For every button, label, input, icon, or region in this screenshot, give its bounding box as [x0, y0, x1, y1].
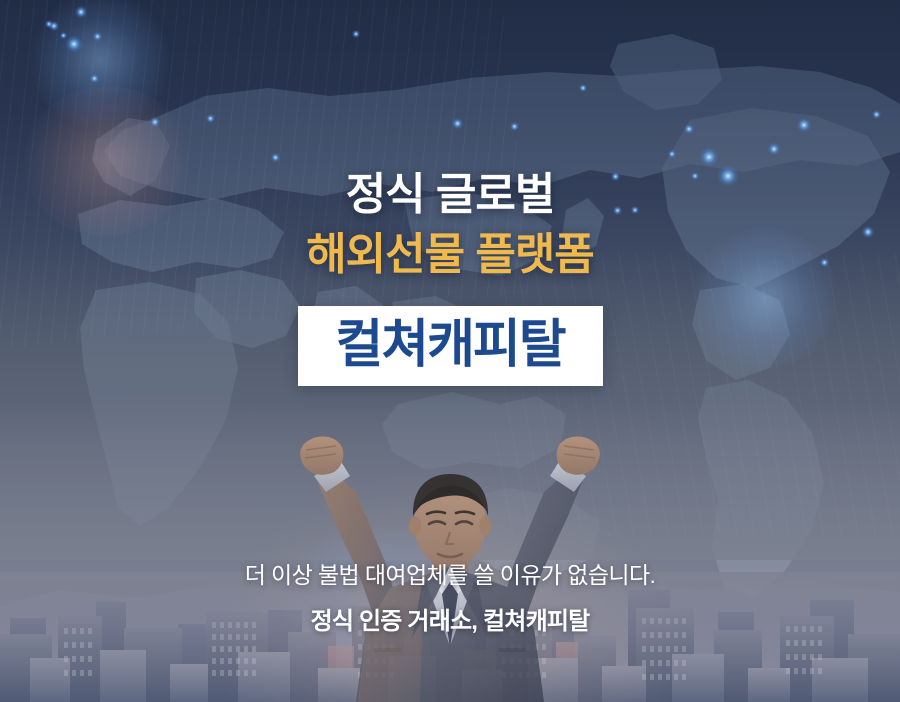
banner-content: 정식 글로벌 해외선물 플랫폼 컬쳐캐피탈 [0, 0, 900, 702]
headline-secondary: 해외선물 플랫폼 [306, 232, 594, 279]
promo-banner: 정식 글로벌 해외선물 플랫폼 컬쳐캐피탈 더 이상 불법 대여업체를 쓸 이유… [0, 0, 900, 702]
brand-name-box: 컬쳐캐피탈 [298, 306, 603, 386]
brand-name-text: 컬쳐캐피탈 [335, 319, 564, 374]
headline-primary: 정식 글로벌 [346, 172, 555, 219]
